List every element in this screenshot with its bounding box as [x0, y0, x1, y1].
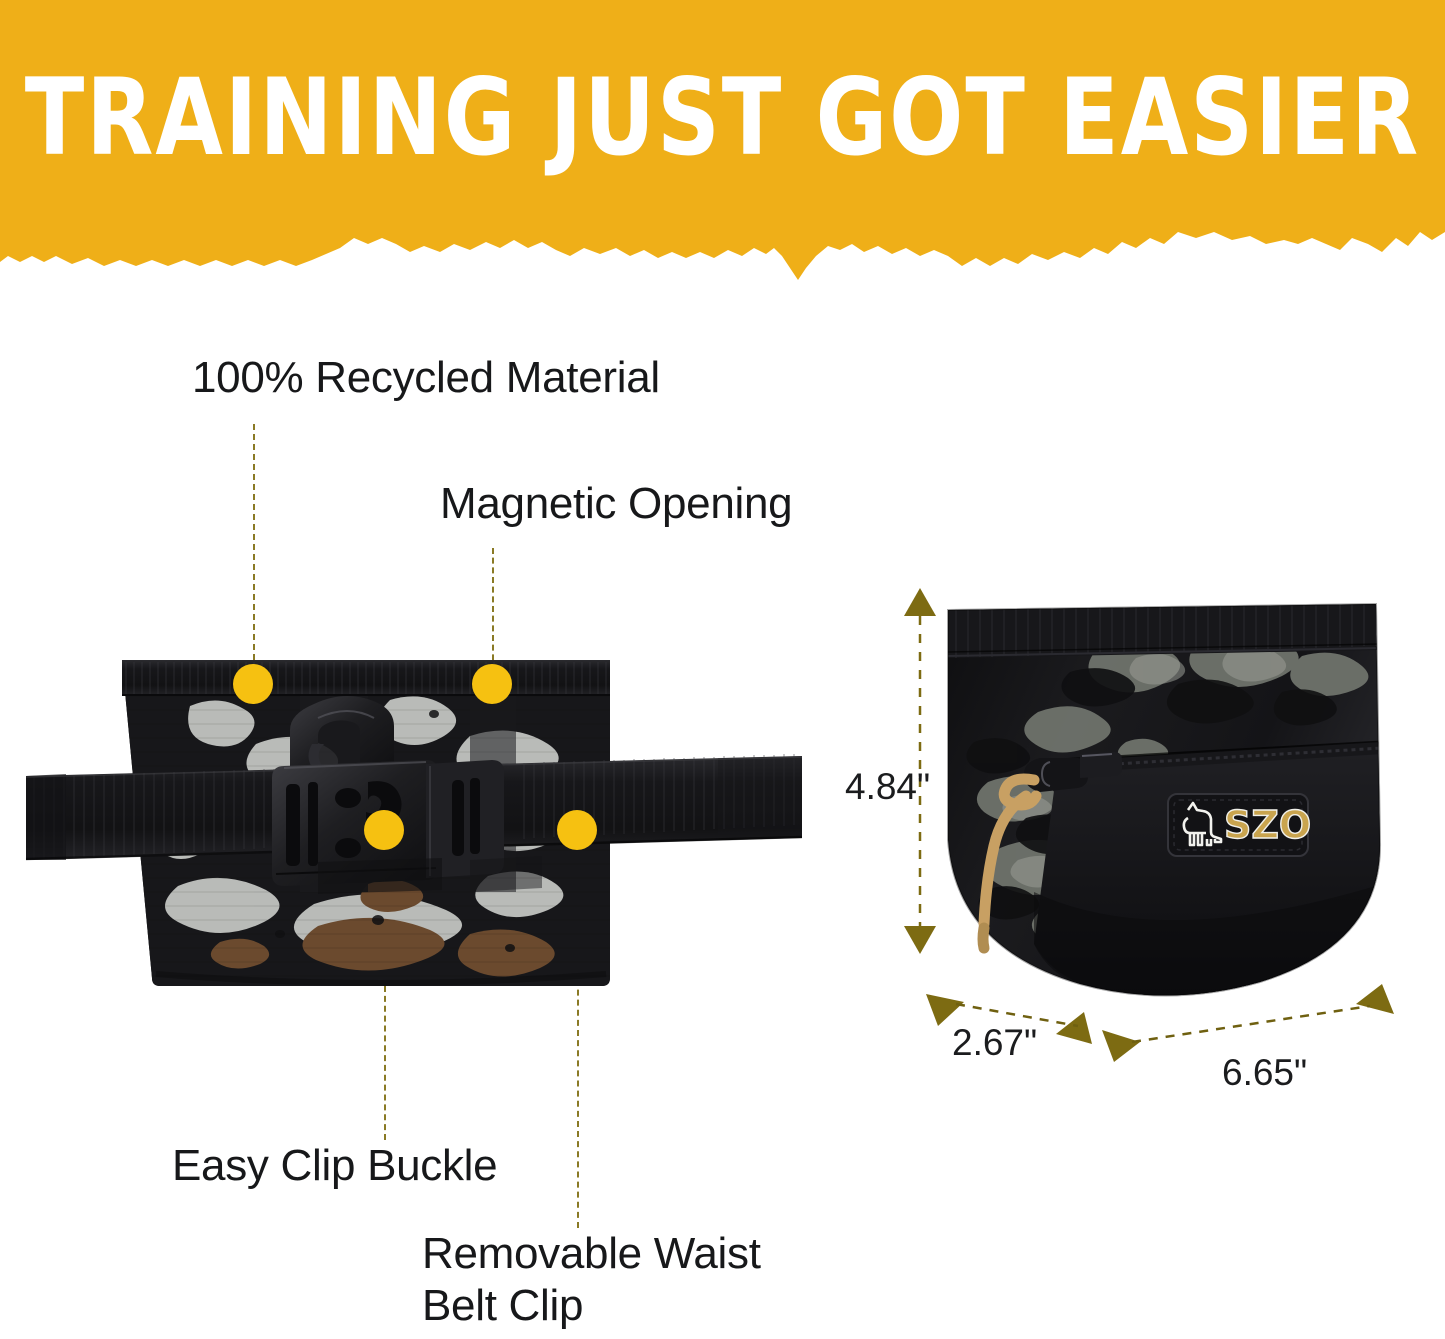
- brand-patch: SZO: [1168, 794, 1311, 856]
- callout-dot-buckle[interactable]: [364, 810, 404, 850]
- product-image-pouch-three-quarter: SZO: [930, 592, 1392, 1010]
- callout-dot-recycled[interactable]: [233, 664, 273, 704]
- connector-line-recycled: [253, 424, 255, 670]
- feature-label-removable-waist-belt-clip: Removable Waist Belt Clip: [422, 1228, 761, 1332]
- header-banner: TRAINING JUST GOT EASIER: [0, 0, 1445, 285]
- callout-dot-magnetic[interactable]: [472, 664, 512, 704]
- flat-pouch-illustration: [18, 648, 810, 1000]
- product-image-flat-pouch: [18, 648, 810, 1000]
- dimension-label-width: 6.65": [1222, 1052, 1307, 1094]
- banner-title: TRAINING JUST GOT EASIER: [22, 62, 1424, 175]
- dimension-label-height: 4.84": [845, 766, 930, 808]
- pouch-illustration: SZO: [930, 592, 1392, 1010]
- brand-patch-text: SZO: [1224, 803, 1311, 847]
- feature-label-magnetic: Magnetic Opening: [440, 478, 792, 530]
- dimension-label-depth: 2.67": [952, 1022, 1037, 1064]
- feature-label-easy-clip-buckle: Easy Clip Buckle: [172, 1140, 497, 1192]
- callout-dot-belt-clip[interactable]: [557, 810, 597, 850]
- feature-label-recycled: 100% Recycled Material: [192, 352, 660, 404]
